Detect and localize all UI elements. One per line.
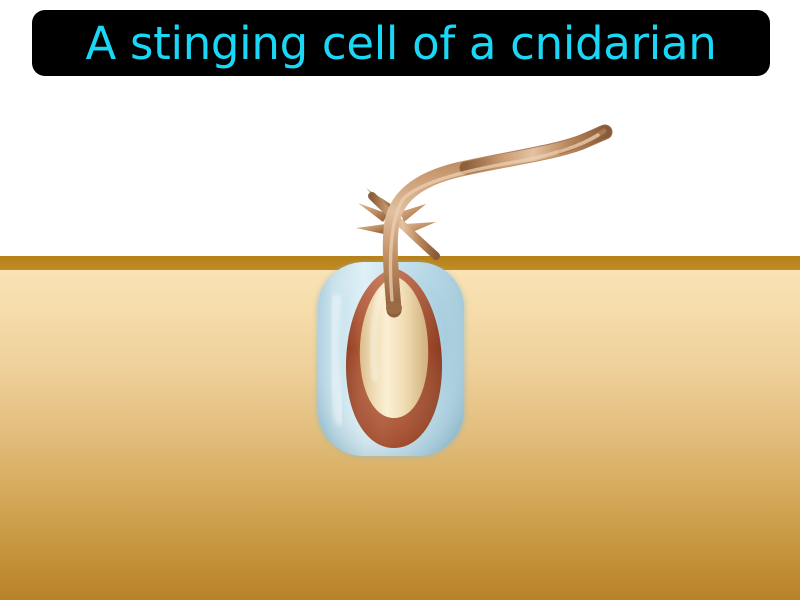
thread-shaft-upper bbox=[466, 132, 605, 168]
title-banner: A stinging cell of a cnidarian bbox=[32, 10, 770, 76]
thread-base-cap bbox=[386, 302, 402, 314]
page-title: A stinging cell of a cnidarian bbox=[86, 21, 717, 66]
illustration-canvas: A stinging cell of a cnidarian bbox=[0, 0, 800, 600]
nematocyst-thread bbox=[356, 131, 605, 314]
barb-icon bbox=[356, 224, 386, 234]
cnidocyte-diagram bbox=[0, 0, 800, 600]
capsule-highlight bbox=[334, 300, 340, 420]
